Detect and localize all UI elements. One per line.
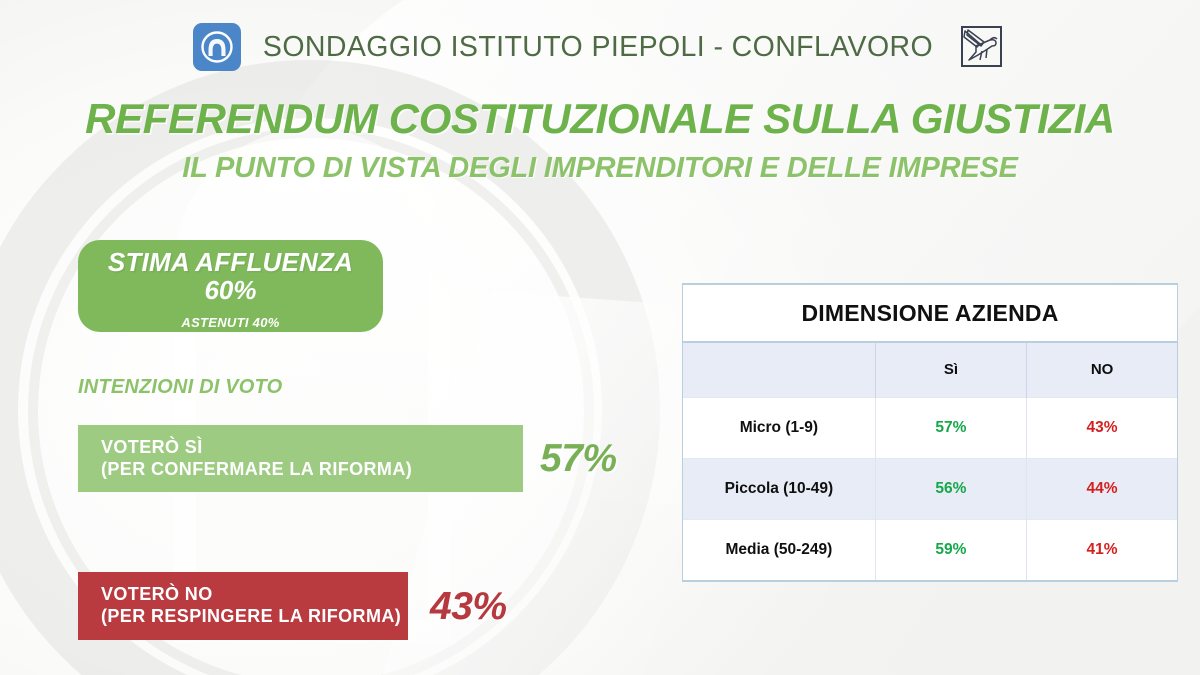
vote-bar-si: VOTERÒ SÌ (PER CONFERMARE LA RIFORMA) xyxy=(78,425,523,492)
vote-bar-si-line1: VOTERÒ SÌ xyxy=(101,437,412,459)
vote-bar-si-line2: (PER CONFERMARE LA RIFORMA) xyxy=(101,459,412,481)
table-col-header-category xyxy=(683,342,875,397)
infographic-canvas: SONDAGGIO ISTITUTO PIEPOLI - CONFLAVORO … xyxy=(0,0,1200,675)
table-cell-si: 56% xyxy=(875,458,1026,519)
affluenza-astenuti: ASTENUTI 40% xyxy=(181,315,279,330)
table-cell-category: Media (50-249) xyxy=(683,519,875,580)
piepoli-arch-icon xyxy=(193,23,241,71)
header-title: SONDAGGIO ISTITUTO PIEPOLI - CONFLAVORO xyxy=(263,31,933,64)
table-row: Piccola (10-49) 56% 44% xyxy=(683,458,1177,519)
intenzioni-section-label: INTENZIONI DI VOTO xyxy=(78,376,282,399)
vote-bar-no-line1: VOTERÒ NO xyxy=(101,584,401,606)
conflavoro-eagle-icon xyxy=(955,21,1007,73)
dimensione-azienda-table: DIMENSIONE AZIENDA Sì NO Micro (1-9) 57%… xyxy=(682,283,1178,582)
table-cell-si: 57% xyxy=(875,397,1026,458)
header-bar: SONDAGGIO ISTITUTO PIEPOLI - CONFLAVORO xyxy=(0,8,1200,86)
table-row: Micro (1-9) 57% 43% xyxy=(683,397,1177,458)
table-header-row: Sì NO xyxy=(683,342,1177,397)
page-title: REFERENDUM COSTITUZIONALE SULLA GIUSTIZI… xyxy=(0,95,1200,143)
table-title-row: DIMENSIONE AZIENDA xyxy=(683,285,1177,342)
affluenza-label: STIMA AFFLUENZA xyxy=(108,247,353,278)
table-cell-category: Micro (1-9) xyxy=(683,397,875,458)
vote-percent-si: 57% xyxy=(540,437,617,481)
table-cell-no: 41% xyxy=(1027,519,1177,580)
table-col-header-no: NO xyxy=(1027,342,1177,397)
vote-bar-no: VOTERÒ NO (PER RESPINGERE LA RIFORMA) xyxy=(78,572,408,640)
vote-percent-no: 43% xyxy=(430,585,507,629)
page-subtitle: IL PUNTO DI VISTA DEGLI IMPRENDITORI E D… xyxy=(0,152,1200,185)
table-cell-no: 44% xyxy=(1027,458,1177,519)
table-cell-no: 43% xyxy=(1027,397,1177,458)
table-row: Media (50-249) 59% 41% xyxy=(683,519,1177,580)
table-cell-category: Piccola (10-49) xyxy=(683,458,875,519)
table-title: DIMENSIONE AZIENDA xyxy=(683,285,1177,342)
table-cell-si: 59% xyxy=(875,519,1026,580)
affluenza-card: STIMA AFFLUENZA 60% ASTENUTI 40% xyxy=(78,240,383,332)
table-col-header-si: Sì xyxy=(875,342,1026,397)
vote-bar-no-line2: (PER RESPINGERE LA RIFORMA) xyxy=(101,606,401,628)
affluenza-value: 60% xyxy=(204,275,256,306)
